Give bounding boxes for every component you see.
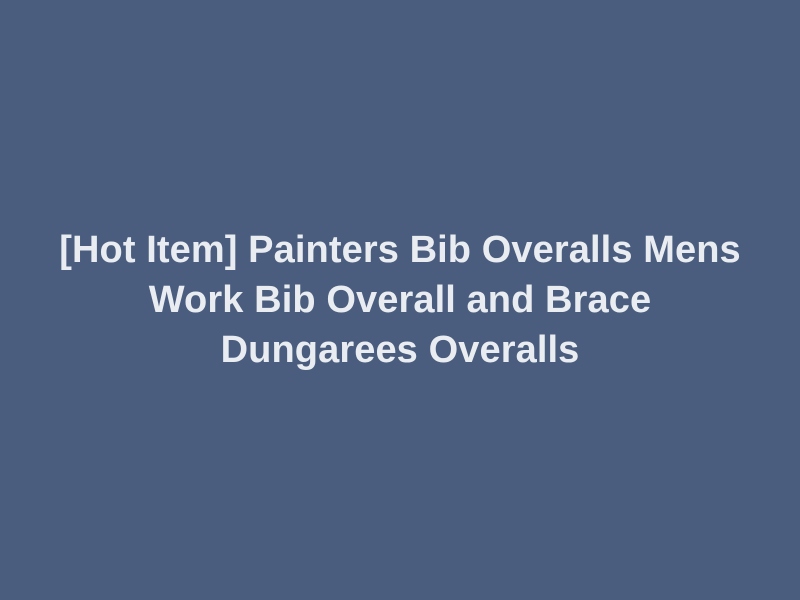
title-line-3: Dungarees Overalls (40, 325, 760, 375)
title-line-2: Work Bib Overall and Brace (40, 275, 760, 325)
title-line-1: [Hot Item] Painters Bib Overalls Mens (40, 225, 760, 275)
page-title: [Hot Item] Painters Bib Overalls Mens Wo… (20, 225, 780, 375)
title-card: [Hot Item] Painters Bib Overalls Mens Wo… (0, 0, 800, 600)
